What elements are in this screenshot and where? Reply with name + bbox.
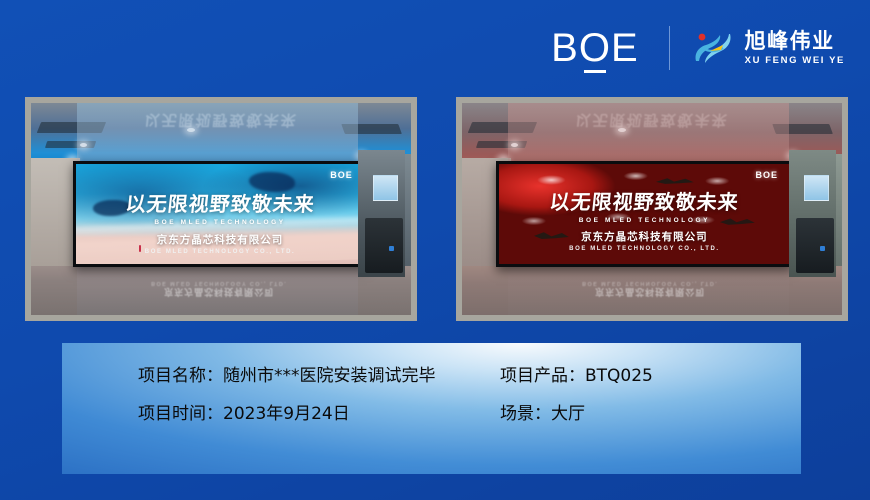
led-corp-en-right: BOE MLED TECHNOLOGY CO., LTD. (499, 246, 789, 252)
floor-reflection-cn: 京东方晶芯科技有限公司 (77, 286, 362, 299)
led-corp-cn-right: 京东方晶芯科技有限公司 (499, 229, 789, 244)
led-corp-en-left: BOE MLED TECHNOLOGY CO., LTD. (76, 249, 365, 255)
gate-indicator-right (820, 246, 825, 251)
project-time-label: 项目时间： (138, 404, 223, 424)
xufeng-logo: 旭峰伟业 XU FENG WEI YE (690, 28, 845, 68)
led-video-wall-left[interactable]: BOE 以无限视野致敬未来 BOE MLED TECHNOLOGY 京东方晶芯科… (73, 161, 368, 267)
logo-divider (669, 26, 670, 70)
led-corp-block-left: 京东方晶芯科技有限公司 BOE MLED TECHNOLOGY CO., LTD… (76, 232, 365, 255)
scene-label: 场景： (500, 404, 551, 424)
xufeng-bird-mark (690, 28, 736, 68)
onscreen-boe-logo-right: BOE (755, 170, 778, 180)
floor-reflection-en: BOE MLED TECHNOLOGY CO., LTD. (508, 280, 793, 286)
photo-left: 以无限视野致敬未来 BOE MLED TECHNOLOGY CO., LTD. … (31, 103, 411, 315)
boe-logo-underline (584, 70, 606, 73)
led-video-wall-right[interactable]: BOE 以无限视野致敬未来 BOE MLED TECHNOLOGY 京东方晶芯科… (496, 161, 792, 267)
xufeng-wordmark: 旭峰伟业 XU FENG WEI YE (745, 31, 845, 66)
info-grid: 项目名称：随州市***医院安装调试完毕 项目产品：BTQ025 项目时间：202… (138, 367, 781, 423)
xufeng-name-en: XU FENG WEI YE (745, 56, 845, 66)
wall-poster-right (804, 175, 829, 200)
project-name-label: 项目名称： (138, 366, 223, 386)
photo-frame-right: 以无限视野致敬未来 BOE MLED TECHNOLOGY CO., LTD. … (456, 97, 848, 321)
project-name-value: 随州市***医院安装调试完毕 (223, 366, 436, 386)
info-panel: 项目名称：随州市***医院安装调试完毕 项目产品：BTQ025 项目时间：202… (62, 343, 801, 474)
header-logo-band: BOE 旭峰伟业 XU FENG WEI YE (551, 22, 845, 74)
onscreen-boe-logo-left: BOE (330, 170, 353, 180)
floor-reflection-cn: 京东方晶芯科技有限公司 (508, 286, 793, 299)
project-product-label: 项目产品： (500, 366, 585, 386)
boe-logo-text: BOE (551, 28, 638, 68)
entrance-gate-left (365, 218, 403, 273)
lobby-room-right: 以无限视野致敬未来 BOE MLED TECHNOLOGY CO., LTD. … (462, 103, 842, 315)
photo-frame-left: 以无限视野致敬未来 BOE MLED TECHNOLOGY CO., LTD. … (25, 97, 417, 321)
project-time-row: 项目时间：2023年9月24日 (138, 405, 500, 424)
boe-logo: BOE (551, 28, 642, 68)
wall-poster-left (373, 175, 398, 200)
project-time-value: 2023年9月24日 (223, 404, 350, 424)
project-name-row: 项目名称：随州市***医院安装调试完毕 (138, 367, 500, 386)
led-corp-block-right: 京东方晶芯科技有限公司 BOE MLED TECHNOLOGY CO., LTD… (499, 229, 789, 252)
floor-reflection-en: BOE MLED TECHNOLOGY CO., LTD. (77, 280, 362, 286)
scene-row: 场景：大厅 (500, 405, 781, 424)
xufeng-name-cn: 旭峰伟业 (745, 31, 845, 52)
lobby-room-left: 以无限视野致敬未来 BOE MLED TECHNOLOGY CO., LTD. … (31, 103, 411, 315)
project-product-row: 项目产品：BTQ025 (500, 367, 781, 386)
floor-screen-reflection: BOE MLED TECHNOLOGY CO., LTD. 京东方晶芯科技有限公… (508, 268, 793, 315)
floor-screen-reflection: BOE MLED TECHNOLOGY CO., LTD. 京东方晶芯科技有限公… (77, 268, 362, 315)
photo-right: 以无限视野致敬未来 BOE MLED TECHNOLOGY CO., LTD. … (462, 103, 842, 315)
entrance-gate-right (796, 218, 834, 273)
scene-value: 大厅 (551, 404, 585, 424)
gate-indicator-left (389, 246, 394, 251)
slide-root: BOE 旭峰伟业 XU FENG WEI YE (0, 0, 870, 500)
project-product-value: BTQ025 (585, 366, 653, 386)
led-corp-cn-left: 京东方晶芯科技有限公司 (76, 232, 365, 247)
